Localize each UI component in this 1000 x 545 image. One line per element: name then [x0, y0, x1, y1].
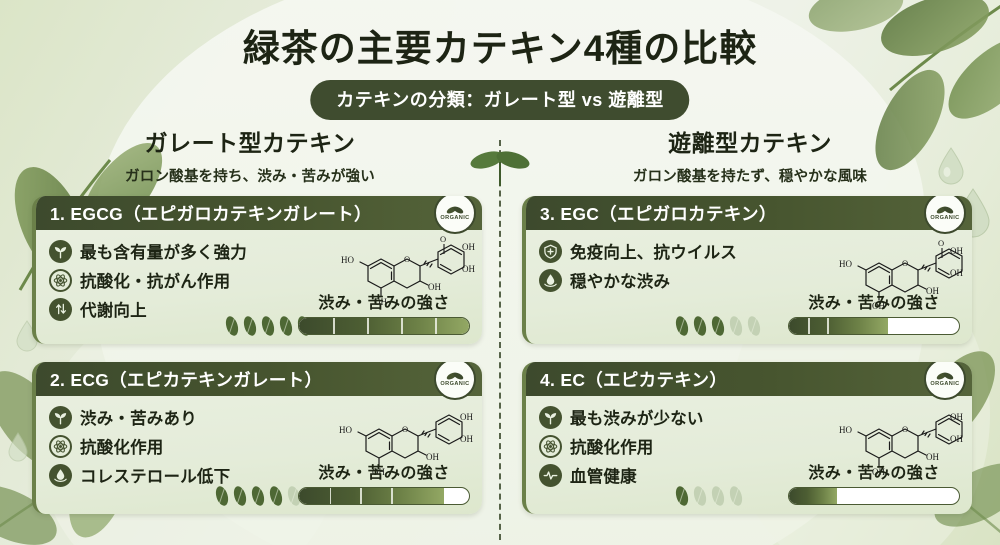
card-header: 3. EGC（エピガロカテキン） ORGANIC	[526, 196, 972, 230]
column-header-free: 遊離型カテキン ガロン酸基を持たず、穏やかな風味	[520, 124, 980, 186]
meter-fill	[299, 488, 444, 504]
heartbeat-icon	[539, 464, 562, 487]
organic-badge: ORGANIC	[924, 196, 966, 234]
meter-label: 渋み・苦みの強さ	[788, 289, 960, 313]
molecule-label: HO	[839, 425, 852, 435]
column-title: ガレート型カテキン	[20, 124, 480, 158]
rating-leaf-icon	[692, 485, 708, 507]
meter-label: 渋み・苦みの強さ	[298, 459, 470, 483]
benefit-list: 最も渋みが少ない 抗酸化作用 血管健康	[539, 405, 704, 492]
benefit-list: 最も含有量が多く強力 抗酸化・抗がん作用 代謝向上	[49, 239, 247, 326]
astringency-meter: 渋み・苦みの強さ	[788, 459, 960, 505]
benefit-item: 最も含有量が多く強力	[49, 239, 247, 263]
benefit-item: 抗酸化・抗がん作用	[49, 268, 247, 292]
rating-leaf-icon	[224, 315, 240, 337]
leaf-sprout-icon	[49, 406, 72, 429]
card-body: 免疫向上、抗ウイルス 穏やかな渋み	[526, 230, 972, 344]
molecule-label: O	[902, 424, 908, 434]
catechin-card-egcg: 1. EGCG（エピガロカテキンガレート） ORGANIC 最も含有量が多く強力…	[32, 196, 482, 344]
column-header-gallate: ガレート型カテキン ガロン酸基を持ち、渋み・苦みが強い	[20, 124, 480, 186]
molecule-label: OH	[462, 264, 475, 274]
molecule-label: HO	[339, 425, 352, 435]
benefit-text: 血管健康	[570, 463, 637, 487]
rating-leaf-icon	[250, 485, 266, 507]
benefit-text: 最も渋みが少ない	[570, 405, 704, 429]
molecule-label: HO	[839, 259, 852, 269]
benefit-item: 免疫向上、抗ウイルス	[539, 239, 737, 263]
meter-segment-divider	[827, 318, 829, 334]
leaf-rating	[214, 485, 302, 507]
molecule-label: O	[902, 258, 908, 268]
meter-fill	[789, 488, 837, 504]
atom-icon	[49, 435, 72, 458]
astringency-meter: 渋み・苦みの強さ	[298, 459, 470, 505]
meter-segment-divider	[360, 488, 362, 504]
rating-leaf-icon	[674, 485, 690, 507]
benefit-text: 抗酸化作用	[80, 434, 164, 458]
column-title: 遊離型カテキン	[520, 124, 980, 158]
rating-leaf-icon	[692, 315, 708, 337]
card-body: 最も含有量が多く強力 抗酸化・抗がん作用 代謝向上	[36, 230, 482, 344]
benefit-item: 代謝向上	[49, 297, 247, 321]
benefit-item: 抗酸化作用	[49, 434, 230, 458]
organic-badge: ORGANIC	[924, 362, 966, 400]
molecule-label: HO	[341, 255, 354, 265]
benefit-list: 免疫向上、抗ウイルス 穏やかな渋み	[539, 239, 737, 297]
up-down-arrows-icon	[49, 298, 72, 321]
leaf-rating	[674, 485, 744, 507]
benefit-text: 代謝向上	[80, 297, 147, 321]
divider-leaf-pair-icon	[470, 140, 530, 190]
meter-segment-divider	[401, 318, 403, 334]
meter-track	[788, 317, 960, 335]
leaf-sprout-icon	[49, 240, 72, 263]
atom-icon	[539, 435, 562, 458]
benefit-list: 渋み・苦みあり 抗酸化作用 コレステロール低下	[49, 405, 230, 492]
molecule-label: OH	[460, 412, 473, 422]
organic-badge-label: ORGANIC	[930, 215, 959, 221]
catechin-card-ec: 4. EC（エピカテキン） ORGANIC 最も渋みが少ない 抗酸化作用	[522, 362, 972, 514]
svg-text:O: O	[938, 238, 944, 248]
meter-track	[298, 487, 470, 505]
catechin-card-egc: 3. EGC（エピガロカテキン） ORGANIC 免疫向上、抗ウイルス 穏やかな…	[522, 196, 972, 344]
card-header: 4. EC（エピカテキン） ORGANIC	[526, 362, 972, 396]
card-body: 最も渋みが少ない 抗酸化作用 血管健康	[526, 396, 972, 514]
molecule-label: OH	[950, 434, 963, 444]
organic-badge: ORGANIC	[434, 362, 476, 400]
molecule-label: OH	[950, 246, 963, 256]
rating-leaf-icon	[260, 315, 276, 337]
water-drop-hand-icon	[539, 269, 562, 292]
card-body: 渋み・苦みあり 抗酸化作用 コレステロール低下	[36, 396, 482, 514]
benefit-text: 渋み・苦みあり	[80, 405, 197, 429]
meter-track	[788, 487, 960, 505]
rating-leaf-icon	[278, 315, 294, 337]
column-subtitle: ガロン酸基を持ち、渋み・苦みが強い	[20, 165, 480, 186]
molecule-label: OH	[950, 268, 963, 278]
rating-leaf-icon	[728, 315, 744, 337]
classification-badge: カテキンの分類：ガレート型 vs 遊離型	[310, 80, 689, 120]
organic-badge-label: ORGANIC	[440, 381, 469, 387]
benefit-text: 抗酸化作用	[570, 434, 654, 458]
benefit-item: 最も渋みが少ない	[539, 405, 704, 429]
meter-label: 渋み・苦みの強さ	[788, 459, 960, 483]
meter-segment-divider	[435, 318, 437, 334]
benefit-text: 穏やかな渋み	[570, 268, 670, 292]
organic-badge-label: ORGANIC	[440, 215, 469, 221]
benefit-item: 抗酸化作用	[539, 434, 704, 458]
column-subtitle: ガロン酸基を持たず、穏やかな風味	[520, 165, 980, 186]
card-header: 2. ECG（エピカテキンガレート） ORGANIC	[36, 362, 482, 396]
meter-segment-divider	[367, 318, 369, 334]
card-title: 2. ECG（エピカテキンガレート）	[50, 367, 322, 392]
meter-segment-divider	[391, 488, 393, 504]
infographic-canvas: 緑茶の主要カテキン4種の比較 カテキンの分類：ガレート型 vs 遊離型 ガレート…	[0, 0, 1000, 545]
benefit-item: 渋み・苦みあり	[49, 405, 230, 429]
meter-label: 渋み・苦みの強さ	[298, 289, 470, 313]
benefit-item: 血管健康	[539, 463, 704, 487]
rating-leaf-icon	[268, 485, 284, 507]
benefit-text: 抗酸化・抗がん作用	[80, 268, 230, 292]
rating-leaf-icon	[232, 485, 248, 507]
benefit-text: 最も含有量が多く強力	[80, 239, 247, 263]
atom-icon	[49, 269, 72, 292]
page-title: 緑茶の主要カテキン4種の比較	[0, 18, 1000, 72]
organic-badge-label: ORGANIC	[930, 381, 959, 387]
rating-leaf-icon	[242, 315, 258, 337]
meter-segment-divider	[330, 488, 332, 504]
molecule-label: O	[404, 254, 410, 264]
molecule-label: OH	[950, 412, 963, 422]
column-divider	[499, 140, 501, 540]
rating-leaf-icon	[710, 315, 726, 337]
catechin-card-ecg: 2. ECG（エピカテキンガレート） ORGANIC 渋み・苦みあり 抗酸化作用	[32, 362, 482, 514]
astringency-meter: 渋み・苦みの強さ	[298, 289, 470, 335]
meter-track	[298, 317, 470, 335]
card-title: 1. EGCG（エピガロカテキンガレート）	[50, 201, 372, 226]
meter-segment-divider	[333, 318, 335, 334]
water-drop-hand-icon	[49, 464, 72, 487]
astringency-meter: 渋み・苦みの強さ	[788, 289, 960, 335]
meter-segment-divider	[808, 318, 810, 334]
rating-leaf-icon	[674, 315, 690, 337]
rating-leaf-icon	[214, 485, 230, 507]
meter-fill	[789, 318, 888, 334]
card-title: 3. EGC（エピガロカテキン）	[540, 201, 777, 226]
shield-plus-icon	[539, 240, 562, 263]
card-header: 1. EGCG（エピガロカテキンガレート） ORGANIC	[36, 196, 482, 230]
card-title: 4. EC（エピカテキン）	[540, 367, 727, 392]
benefit-text: 免疫向上、抗ウイルス	[570, 239, 737, 263]
benefit-item: コレステロール低下	[49, 463, 230, 487]
molecule-label: O	[402, 424, 408, 434]
meter-fill	[299, 318, 469, 334]
rating-leaf-icon	[746, 315, 762, 337]
leaf-sprout-icon	[539, 406, 562, 429]
rating-leaf-icon	[710, 485, 726, 507]
molecule-label: OH	[460, 434, 473, 444]
benefit-text: コレステロール低下	[80, 463, 230, 487]
molecule-label: OH	[462, 242, 475, 252]
svg-text:O: O	[440, 234, 446, 244]
benefit-item: 穏やかな渋み	[539, 268, 737, 292]
rating-leaf-icon	[728, 485, 744, 507]
leaf-rating	[674, 315, 762, 337]
